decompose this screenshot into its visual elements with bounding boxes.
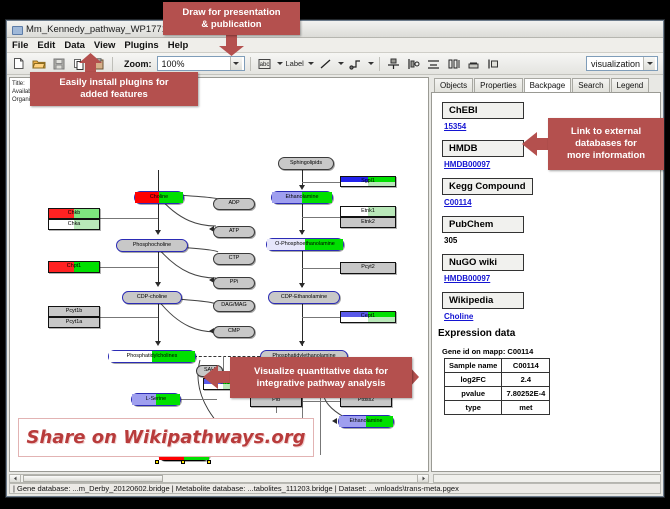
db-header-wikipedia: Wikipedia bbox=[442, 292, 524, 309]
toolbar-separator bbox=[112, 57, 113, 71]
chevron-down-icon[interactable] bbox=[230, 57, 242, 70]
cell-label: pvalue bbox=[445, 387, 502, 401]
info-line-organism: Organi bbox=[12, 96, 32, 104]
db-header-hmdb: HMDB bbox=[442, 140, 524, 157]
node-label: Pld bbox=[272, 398, 280, 403]
cell-value: C00114 bbox=[502, 359, 550, 373]
open-folder-icon[interactable] bbox=[30, 55, 47, 72]
node-label: Sphingolipids bbox=[290, 161, 322, 166]
same-height-icon[interactable] bbox=[445, 55, 462, 72]
node-label: Choline bbox=[150, 195, 168, 200]
metabolite-node-l-serine-left[interactable]: L-Serine bbox=[131, 393, 181, 406]
pathway-canvas[interactable]: Title: Availab Organi bbox=[9, 77, 429, 472]
info-line-availability: Availab bbox=[12, 88, 32, 96]
node-label: CDP-choline bbox=[137, 295, 167, 300]
gene-node-pcyt1a[interactable]: Pcyt1a bbox=[48, 317, 100, 328]
gene-node-chka[interactable]: Chka bbox=[48, 219, 100, 230]
node-label: Pcyt1a bbox=[66, 320, 82, 325]
share-banner-text: Share on Wikipathways.org bbox=[27, 427, 306, 448]
scroll-right-icon[interactable] bbox=[417, 475, 428, 482]
tab-backpage[interactable]: Backpage bbox=[524, 78, 572, 93]
menu-item-edit[interactable]: Edit bbox=[37, 40, 55, 51]
pathway-info-lines: Title: Availab Organi bbox=[12, 80, 32, 104]
cell-value: 2.4 bbox=[502, 373, 550, 387]
scroll-left-icon[interactable] bbox=[10, 475, 21, 482]
gene-node-etnk1[interactable]: Etnk1 bbox=[340, 206, 396, 217]
toolbar-separator-2 bbox=[250, 57, 251, 71]
callout-plugins-text: Easily install plugins for added feature… bbox=[51, 74, 176, 104]
canvas-horizontal-scrollbar[interactable] bbox=[9, 474, 429, 483]
tab-legend[interactable]: Legend bbox=[611, 78, 650, 92]
menu-item-view[interactable]: View bbox=[94, 40, 115, 51]
side-panel-tabs: Objects Properties Backpage Search Legen… bbox=[431, 77, 661, 92]
tab-objects[interactable]: Objects bbox=[434, 78, 473, 92]
connector-line bbox=[158, 170, 159, 192]
db-value-pubchem: 305 bbox=[444, 236, 660, 245]
callout-visualize-text: Visualize quantitative data for integrat… bbox=[246, 363, 396, 393]
node-label: CDP-Ethanolamine bbox=[281, 295, 327, 300]
gene-node-cept1[interactable]: Cept1 bbox=[340, 311, 396, 323]
expression-table: Sample nameC00114 log2FC2.4 pvalue7.8025… bbox=[444, 358, 550, 415]
node-label: Ethanolamine bbox=[350, 419, 383, 424]
connector-line bbox=[302, 304, 303, 346]
node-label: Etnk2 bbox=[361, 220, 375, 225]
callout-draw-arrow bbox=[218, 35, 245, 57]
gene-node-pcyt1b[interactable]: Pcyt1b bbox=[48, 306, 100, 317]
callout-visualize-line2: integrative pathway analysis bbox=[254, 378, 388, 390]
callout-link-line1: Link to external bbox=[567, 126, 645, 138]
arrow-head bbox=[299, 283, 305, 288]
stack-group-icon[interactable] bbox=[465, 55, 482, 72]
arrow-head bbox=[299, 341, 305, 346]
metabolite-node-phosphatidylcholines[interactable]: Phosphatidylcholines bbox=[108, 350, 196, 363]
label-tool-label[interactable]: Label bbox=[286, 59, 304, 68]
selection-handle[interactable] bbox=[181, 460, 185, 464]
table-row: Sample nameC00114 bbox=[445, 359, 550, 373]
metabolite-node-choline-top[interactable]: Choline bbox=[134, 191, 184, 204]
callout-link-arrow bbox=[521, 131, 550, 157]
cell-label: Sample name bbox=[445, 359, 502, 373]
callout-plugins-line1: Easily install plugins for bbox=[59, 77, 168, 89]
zoom-combobox[interactable]: 100% bbox=[157, 56, 245, 71]
connector-line bbox=[100, 267, 158, 268]
gene-node-pcyt2[interactable]: Pcyt2 bbox=[340, 262, 396, 274]
info-line-title: Title: bbox=[12, 80, 32, 88]
node-label: ATP bbox=[229, 229, 239, 234]
interaction-dropdown-icon[interactable] bbox=[368, 62, 374, 65]
menu-bar: File Edit Data View Plugins Help bbox=[7, 38, 663, 53]
menu-item-file[interactable]: File bbox=[12, 40, 28, 51]
gene-node-etnk2[interactable]: Etnk2 bbox=[340, 217, 396, 228]
tab-properties[interactable]: Properties bbox=[474, 78, 522, 92]
connector-line bbox=[302, 217, 340, 218]
metabolite-node-atp[interactable]: ATP bbox=[213, 226, 255, 238]
node-label: CTP bbox=[229, 256, 240, 261]
gene-node-chkb[interactable]: Chkb bbox=[48, 208, 100, 219]
table-row: log2FC2.4 bbox=[445, 373, 550, 387]
toolbar-separator-3 bbox=[379, 57, 380, 71]
app-icon bbox=[11, 24, 22, 35]
callout-link: Link to external databases for more info… bbox=[548, 118, 664, 170]
callout-link-line3: more information bbox=[567, 150, 645, 162]
connector-line bbox=[302, 317, 340, 318]
gene-node-chpt1[interactable]: Chpt1 bbox=[48, 261, 100, 273]
metabolite-node-ethanolamine-bottom[interactable]: Ethanolamine bbox=[338, 415, 394, 428]
node-label: Chka bbox=[68, 222, 81, 227]
arrow-head bbox=[332, 418, 337, 424]
metabolite-node-cmp[interactable]: CMP bbox=[213, 326, 255, 338]
panel-horizontal-scrollbar[interactable] bbox=[433, 474, 661, 483]
align-left-icon[interactable] bbox=[405, 55, 422, 72]
node-label: L-Serine bbox=[146, 397, 166, 402]
metabolite-node-ctp[interactable]: CTP bbox=[213, 253, 255, 265]
callout-visualize-line1: Visualize quantitative data for bbox=[254, 366, 388, 378]
line-icon[interactable] bbox=[317, 55, 334, 72]
node-label: Chpt1 bbox=[67, 264, 81, 269]
node-label: CMP bbox=[228, 329, 240, 334]
callout-plugins-line2: added features bbox=[59, 89, 168, 101]
gene-node-sgpl1[interactable]: Sgpl1 bbox=[340, 176, 396, 187]
node-label: Ptdss2 bbox=[358, 398, 374, 403]
node-label: O-Phosphoethanolamine bbox=[275, 242, 335, 247]
menu-item-help[interactable]: Help bbox=[168, 40, 189, 51]
visualization-combobox[interactable]: visualization bbox=[586, 56, 658, 71]
floppy-save-icon[interactable] bbox=[50, 55, 67, 72]
order-front-icon[interactable] bbox=[485, 55, 502, 72]
datanode-dropdown-icon[interactable] bbox=[277, 62, 283, 65]
callout-link-text: Link to external databases for more info… bbox=[559, 123, 653, 165]
connector-line bbox=[181, 399, 217, 400]
node-label: Sgpl1 bbox=[361, 179, 375, 184]
distribute-vertical-icon[interactable] bbox=[425, 55, 442, 72]
node-label: Phosphocholine bbox=[133, 243, 171, 248]
align-top-icon[interactable] bbox=[385, 55, 402, 72]
interaction-icon[interactable] bbox=[347, 55, 364, 72]
share-banner: Share on Wikipathways.org bbox=[18, 418, 314, 457]
db-header-pubchem: PubChem bbox=[442, 216, 524, 233]
cell-value: met bbox=[502, 401, 550, 415]
label-dropdown-icon[interactable] bbox=[308, 62, 314, 65]
node-label: Phosphatidylcholines bbox=[127, 354, 178, 359]
node-label: Pcyt1b bbox=[66, 309, 82, 314]
metabolite-node-cdp-ethanolamine[interactable]: CDP-Ethanolamine bbox=[268, 291, 340, 304]
callout-draw-line1: Draw for presentation bbox=[182, 7, 280, 19]
metabolite-node-ppi[interactable]: PPi bbox=[213, 277, 255, 289]
connector-line bbox=[100, 218, 158, 219]
node-label: Pcyt2 bbox=[361, 265, 374, 270]
scrollbar-thumb[interactable] bbox=[23, 475, 163, 482]
node-label: Cept1 bbox=[361, 314, 375, 319]
metabolite-node-o-phosphoethanolamine[interactable]: O-Phosphoethanolamine bbox=[266, 238, 344, 251]
db-header-chebi: ChEBI bbox=[442, 102, 524, 119]
callout-visualize-arrow bbox=[202, 364, 232, 390]
pathway-drawing[interactable]: Title: Availab Organi bbox=[10, 78, 428, 471]
node-label: ADP bbox=[228, 201, 239, 206]
db-link-kegg-compound[interactable]: C00114 bbox=[444, 198, 660, 207]
metabolite-node-phosphocholine[interactable]: Phosphocholine bbox=[116, 239, 188, 252]
db-header-nugo-wiki: NuGO wiki bbox=[442, 254, 524, 271]
callout-draw-line2: & publication bbox=[182, 19, 280, 31]
title-bar: Mm_Kennedy_pathway_WP1771_45176.gpml bbox=[7, 21, 663, 38]
arrow-head bbox=[155, 341, 161, 346]
connector-line bbox=[100, 317, 158, 318]
status-area: | Gene database: ...m_Derby_20120602.bri… bbox=[7, 474, 663, 496]
cell-label: log2FC bbox=[445, 373, 502, 387]
line-dropdown-icon[interactable] bbox=[338, 62, 344, 65]
connector-line bbox=[302, 182, 340, 183]
connector-line bbox=[302, 268, 340, 269]
selection-handle[interactable] bbox=[155, 460, 159, 464]
zoom-value: 100% bbox=[160, 59, 230, 69]
menu-item-data[interactable]: Data bbox=[64, 40, 85, 51]
node-label: Etnk1 bbox=[361, 209, 375, 214]
cell-label: type bbox=[445, 401, 502, 415]
callout-draw-text: Draw for presentation & publication bbox=[174, 4, 288, 34]
metabolite-node-ethanolamine[interactable]: Ethanolamine bbox=[271, 191, 333, 204]
node-label: DAG/MAG bbox=[221, 303, 246, 308]
cell-value: 7.80252E-4 bbox=[502, 387, 550, 401]
callout-link-line2: databases for bbox=[567, 138, 645, 150]
visualization-value: visualization bbox=[589, 59, 643, 69]
screenshot-root: Mm_Kennedy_pathway_WP1771_45176.gpml Fil… bbox=[0, 0, 670, 509]
table-row: pvalue7.80252E-4 bbox=[445, 387, 550, 401]
new-document-icon[interactable] bbox=[10, 55, 27, 72]
tab-search[interactable]: Search bbox=[572, 78, 609, 92]
callout-draw: Draw for presentation & publication bbox=[163, 2, 300, 35]
callout-visualize: Visualize quantitative data for integrat… bbox=[230, 357, 412, 398]
status-bar: | Gene database: ...m_Derby_20120602.bri… bbox=[9, 483, 661, 494]
metabolite-node-sphingolipids[interactable]: Sphingolipids bbox=[278, 157, 334, 170]
zoom-label: Zoom: bbox=[124, 59, 152, 69]
node-label: Chkb bbox=[68, 211, 81, 216]
gene-id-line: Gene id on mapp: C00114 bbox=[442, 347, 660, 356]
node-label: Ethanolamine bbox=[286, 195, 319, 200]
expression-data-heading: Expression data bbox=[438, 328, 660, 339]
db-link-nugo-wiki[interactable]: HMDB00097 bbox=[444, 274, 660, 283]
db-header-kegg-compound: Kegg Compound bbox=[442, 178, 533, 195]
node-label: PPi bbox=[230, 280, 238, 285]
metabolite-node-cdp-choline[interactable]: CDP-choline bbox=[122, 291, 182, 304]
arrow-head bbox=[299, 230, 305, 235]
visualization-chevron-down-icon[interactable] bbox=[643, 57, 655, 70]
db-link-wikipedia[interactable]: Choline bbox=[444, 312, 660, 321]
menu-item-plugins[interactable]: Plugins bbox=[124, 40, 158, 51]
metabolite-node-adp[interactable]: ADP bbox=[213, 198, 255, 210]
metabolite-node-dag-mag[interactable]: DAG/MAG bbox=[213, 300, 255, 312]
table-row: typemet bbox=[445, 401, 550, 415]
connector-line bbox=[302, 251, 303, 287]
svg-text:abc: abc bbox=[259, 62, 269, 68]
callout-plugins: Easily install plugins for added feature… bbox=[30, 72, 198, 106]
arrow-head bbox=[299, 185, 305, 190]
selection-handle[interactable] bbox=[207, 460, 211, 464]
datanode-icon[interactable]: abc bbox=[256, 55, 273, 72]
callout-plugins-arrow bbox=[78, 52, 103, 74]
